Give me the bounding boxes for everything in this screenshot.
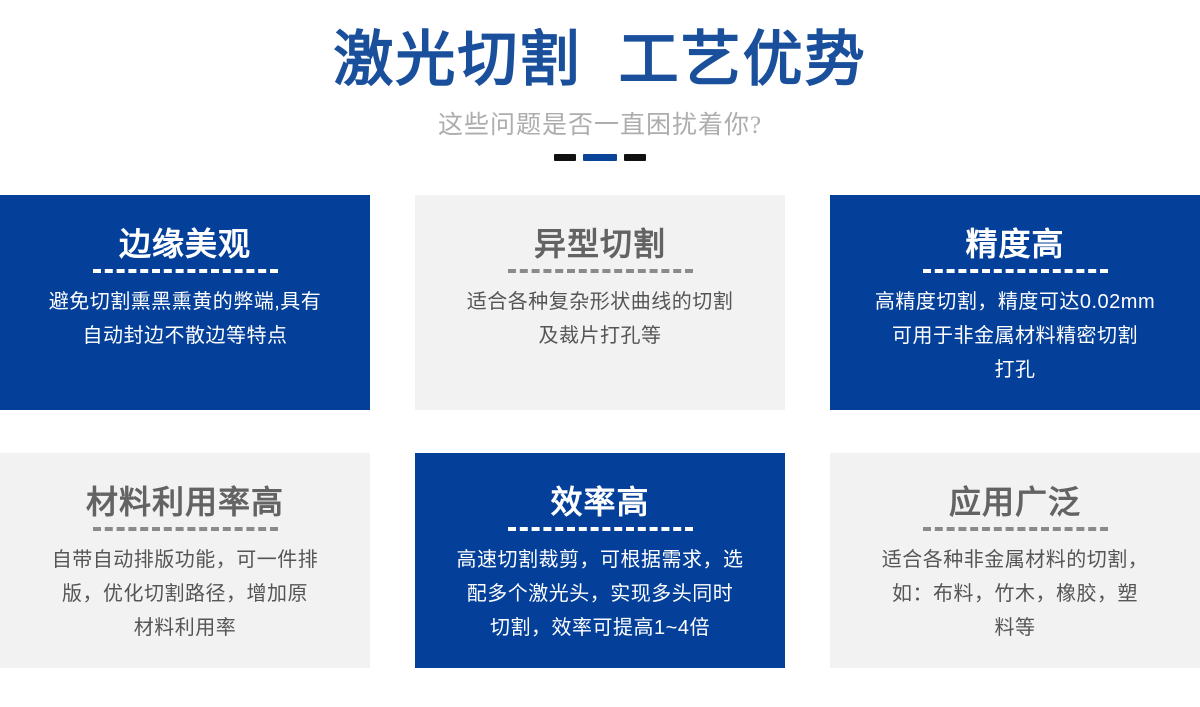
feature-card-wide-application[interactable]: 应用广泛 适合各种非金属材料的切割， 如：布料，竹木，橡胶，塑 料等 <box>830 453 1200 668</box>
body-line: 打孔 <box>844 353 1186 387</box>
body-line: 可用于非金属材料精密切割 <box>844 319 1186 353</box>
page-title: 激光切割 工艺优势 <box>0 22 1200 98</box>
feature-card-high-precision[interactable]: 精度高 高精度切割，精度可达0.02mm 可用于非金属材料精密切割 打孔 <box>830 195 1200 410</box>
body-line: 高精度切割，精度可达0.02mm <box>844 285 1186 319</box>
page-subtitle: 这些问题是否一直困扰着你? <box>0 110 1200 142</box>
feature-card-body: 自带自动排版功能，可一件排 版，优化切割路径，增加原 材料利用率 <box>14 543 356 645</box>
feature-card-shaped-cutting[interactable]: 异型切割 适合各种复杂形状曲线的切割 及裁片打孔等 <box>415 195 785 410</box>
feature-card-body: 适合各种复杂形状曲线的切割 及裁片打孔等 <box>429 285 771 353</box>
feature-card-grid: 边缘美观 避免切割熏黑熏黄的弊端,具有 自动封边不散边等特点 异型切割 适合各种… <box>0 195 1200 668</box>
feature-card-body: 高速切割裁剪，可根据需求，选 配多个激光头，实现多头同时 切割，效率可提高1~4… <box>429 543 771 645</box>
feature-card-title: 精度高 <box>844 225 1186 263</box>
title-divider <box>508 527 693 531</box>
body-line: 自动封边不散边等特点 <box>14 319 356 353</box>
title-divider <box>508 269 693 273</box>
body-line: 避免切割熏黑熏黄的弊端,具有 <box>14 285 356 319</box>
dash-right-icon <box>624 154 646 161</box>
body-line: 及裁片打孔等 <box>429 319 771 353</box>
feature-card-edge-beauty[interactable]: 边缘美观 避免切割熏黑熏黄的弊端,具有 自动封边不散边等特点 <box>0 195 370 410</box>
feature-card-title: 材料利用率高 <box>14 483 356 521</box>
promo-page: 激光切割 工艺优势 这些问题是否一直困扰着你? 边缘美观 避免切割熏黑熏黄的弊端… <box>0 0 1200 707</box>
feature-card-title: 应用广泛 <box>844 483 1186 521</box>
feature-card-body: 适合各种非金属材料的切割， 如：布料，竹木，橡胶，塑 料等 <box>844 543 1186 645</box>
feature-card-material-utilization[interactable]: 材料利用率高 自带自动排版功能，可一件排 版，优化切割路径，增加原 材料利用率 <box>0 453 370 668</box>
body-line: 如：布料，竹木，橡胶，塑 <box>844 577 1186 611</box>
feature-card-title: 效率高 <box>429 483 771 521</box>
feature-card-high-efficiency[interactable]: 效率高 高速切割裁剪，可根据需求，选 配多个激光头，实现多头同时 切割，效率可提… <box>415 453 785 668</box>
feature-card-title: 边缘美观 <box>14 225 356 263</box>
title-divider <box>93 527 278 531</box>
title-divider <box>93 269 278 273</box>
feature-card-body: 避免切割熏黑熏黄的弊端,具有 自动封边不散边等特点 <box>14 285 356 353</box>
title-divider <box>923 269 1108 273</box>
title-divider <box>923 527 1108 531</box>
body-line: 适合各种复杂形状曲线的切割 <box>429 285 771 319</box>
feature-card-title: 异型切割 <box>429 225 771 263</box>
feature-card-body: 高精度切割，精度可达0.02mm 可用于非金属材料精密切割 打孔 <box>844 285 1186 387</box>
body-line: 高速切割裁剪，可根据需求，选 <box>429 543 771 577</box>
body-line: 材料利用率 <box>14 611 356 645</box>
body-line: 配多个激光头，实现多头同时 <box>429 577 771 611</box>
body-line: 适合各种非金属材料的切割， <box>844 543 1186 577</box>
body-line: 切割，效率可提高1~4倍 <box>429 611 771 645</box>
dash-center-icon <box>583 154 617 161</box>
dash-separator <box>0 152 1200 162</box>
body-line: 自带自动排版功能，可一件排 <box>14 543 356 577</box>
page-header: 激光切割 工艺优势 这些问题是否一直困扰着你? <box>0 0 1200 162</box>
body-line: 料等 <box>844 611 1186 645</box>
dash-left-icon <box>554 154 576 161</box>
body-line: 版，优化切割路径，增加原 <box>14 577 356 611</box>
